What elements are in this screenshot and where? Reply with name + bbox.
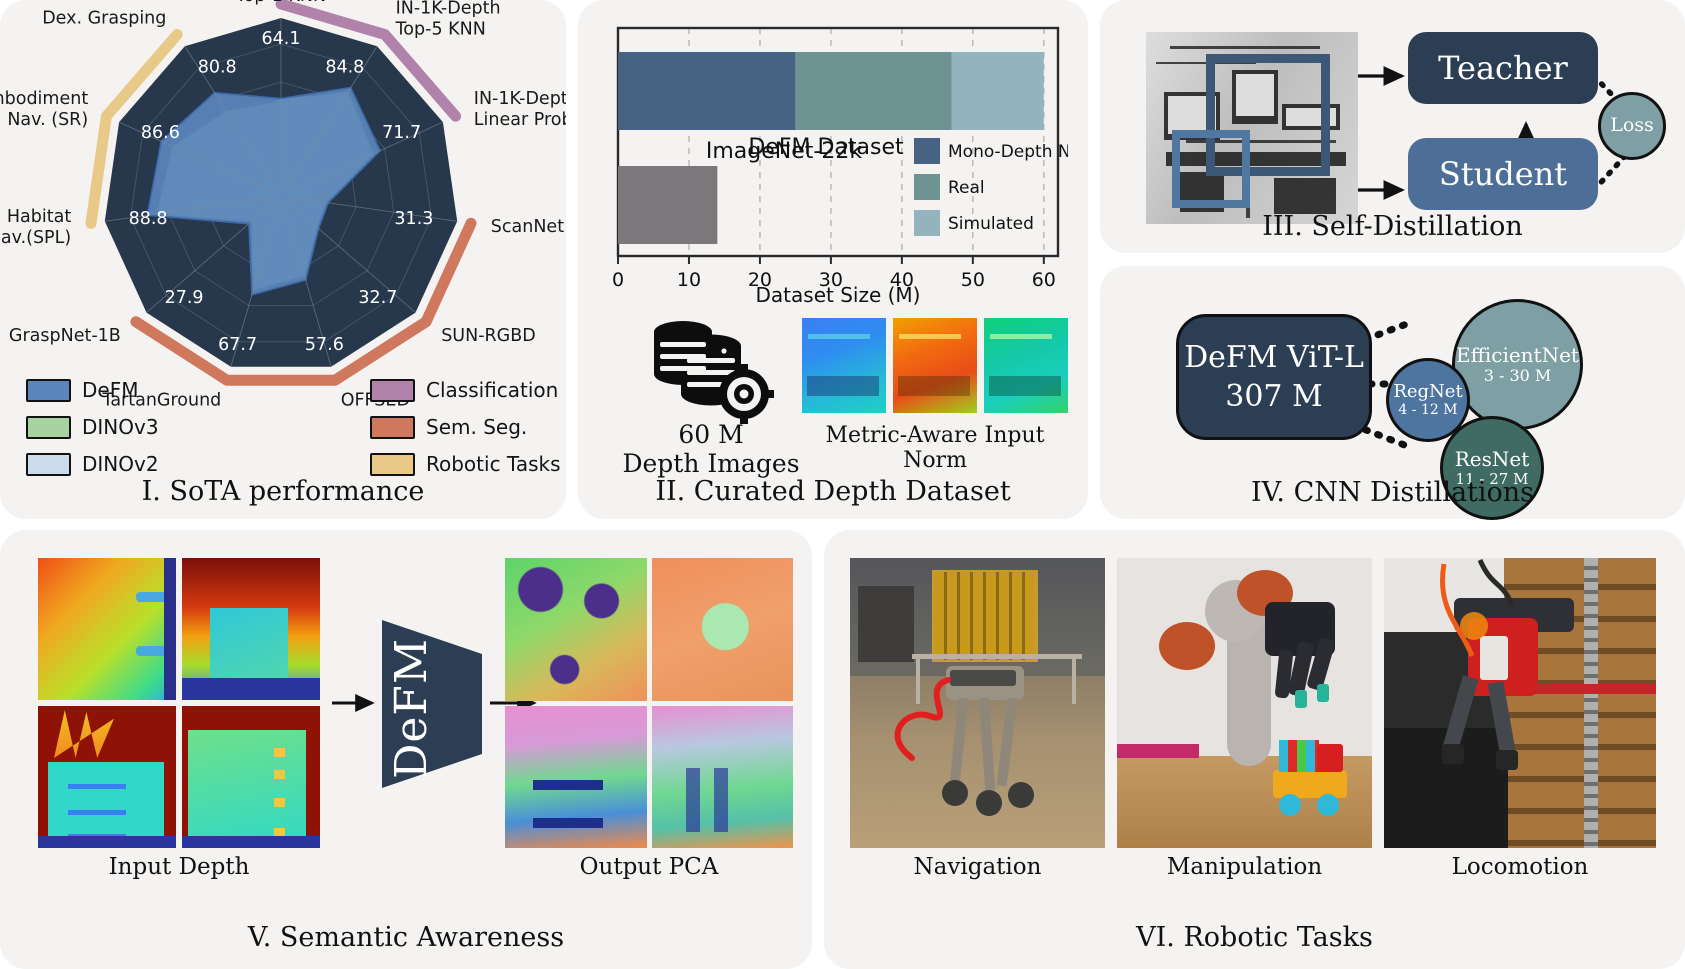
- legend-swatch: [370, 453, 415, 476]
- input-depth-2: [182, 558, 320, 700]
- depth-count-label: Depth Images: [616, 449, 806, 478]
- output-pca-grid: [505, 558, 793, 848]
- svg-text:Embodiment: Embodiment: [0, 89, 88, 109]
- student-node: Student: [1408, 138, 1598, 210]
- svg-text:88.8: 88.8: [129, 209, 168, 229]
- svg-text:Habitat: Habitat: [7, 207, 71, 227]
- database-gear-icon: [636, 316, 786, 424]
- panel-cnn-distillations: DeFM ViT-L 307 M EfficientNet 3 - 30 M R…: [1100, 266, 1685, 519]
- output-pca-4: [652, 706, 794, 849]
- bar-axis-title: Dataset Size (M): [756, 283, 921, 307]
- legend-swatch: [370, 379, 415, 402]
- legend-item-robotic-tasks[interactable]: Robotic Tasks: [370, 452, 561, 476]
- svg-text:Real: Real: [948, 178, 985, 198]
- panel-sota-performance: 64.184.871.731.332.757.667.727.988.886.6…: [0, 0, 566, 519]
- svg-text:GraspNet-1B: GraspNet-1B: [9, 326, 121, 346]
- depth-thumb-orange: [893, 318, 977, 413]
- input-depth-3: [38, 706, 176, 848]
- legend-item-defm[interactable]: DeFM: [26, 378, 159, 402]
- defm-vitl-node: DeFM ViT-L 307 M: [1176, 314, 1372, 440]
- svg-text:Top-5 KNN: Top-5 KNN: [395, 20, 486, 40]
- defm-label: DeFM: [386, 638, 437, 779]
- depth-thumb-blue: [802, 318, 886, 413]
- legend-label: DeFM: [82, 378, 138, 402]
- loss-node: Loss: [1598, 92, 1666, 160]
- output-pca-caption: Output PCA: [505, 854, 793, 880]
- navigation-photo: [850, 558, 1105, 848]
- output-pca-2: [652, 558, 794, 701]
- panel-semantic-awareness: Input Depth DeFM O: [0, 530, 812, 969]
- panel-title-6: VI. Robotic Tasks: [824, 922, 1685, 953]
- legend-label: DINOv3: [82, 415, 159, 439]
- depth-thumb-green: [984, 318, 1068, 413]
- svg-text:57.6: 57.6: [305, 335, 344, 355]
- radar-group-legend: ClassificationSem. Seg.Robotic Tasks: [370, 378, 561, 476]
- panel-self-distillation: ema Teacher Student Loss III. Self-Disti…: [1100, 0, 1685, 253]
- loss-label: Loss: [1610, 115, 1654, 137]
- legend-item-dinov3[interactable]: DINOv3: [26, 415, 159, 439]
- input-depth-1: [38, 558, 176, 700]
- svg-text:Top-1 KNN: Top-1 KNN: [235, 0, 326, 6]
- output-pca-1: [505, 558, 647, 701]
- dataset-size-bar-chart: 0102030405060 DeFM DatasetImageNet-22k M…: [588, 18, 1068, 308]
- legend-swatch: [26, 379, 71, 402]
- navigation-path-overlay: [850, 558, 1105, 848]
- svg-text:ImageNet-22k: ImageNet-22k: [706, 139, 862, 164]
- legend-item-classification[interactable]: Classification: [370, 378, 561, 402]
- svg-text:80.8: 80.8: [198, 57, 237, 77]
- svg-text:32.7: 32.7: [358, 288, 397, 308]
- locomotion-photo: [1384, 558, 1656, 848]
- svg-text:Linear Prob: Linear Prob: [474, 110, 566, 130]
- depth-count: 60 M: [616, 420, 806, 449]
- svg-text:Dex. Grasping: Dex. Grasping: [42, 9, 166, 29]
- panel-title-3: III. Self-Distillation: [1100, 211, 1685, 242]
- efficientnet-name: EfficientNet: [1456, 344, 1579, 367]
- efficientnet-node: EfficientNet 3 - 30 M: [1452, 299, 1583, 430]
- legend-label: Classification: [426, 378, 558, 402]
- figure-root: 64.184.871.731.332.757.667.727.988.886.6…: [0, 0, 1685, 969]
- metric-norm-caption: Metric-Aware Input Norm: [796, 423, 1074, 473]
- output-pca-3: [505, 706, 647, 849]
- locomotion-cables: [1384, 558, 1656, 848]
- svg-text:Nav.(SPL): Nav.(SPL): [0, 228, 71, 248]
- svg-text:Simulated: Simulated: [948, 214, 1034, 234]
- radar-series-legend: DeFMDINOv3DINOv2: [26, 378, 159, 476]
- bar-legend: Mono-Depth NetRealSimulated: [914, 138, 1068, 236]
- depth-images-block: 60 M Depth Images: [616, 316, 806, 478]
- svg-text:67.7: 67.7: [218, 335, 257, 355]
- panel-title-1: I. SoTA performance: [0, 476, 566, 507]
- input-depth-4: [182, 706, 320, 848]
- legend-swatch: [370, 416, 415, 439]
- efficientnet-params: 3 - 30 M: [1484, 367, 1552, 385]
- defm-vitl-params: 307 M: [1225, 379, 1323, 414]
- legend-label: Robotic Tasks: [426, 452, 561, 476]
- panel-robotic-tasks: Navigation Manipulation: [824, 530, 1685, 969]
- regnet-name: RegNet: [1393, 382, 1462, 403]
- self-distillation-input-image: [1146, 32, 1358, 224]
- svg-text:IN-1K-Depth: IN-1K-Depth: [396, 0, 501, 19]
- svg-text:ScanNet: ScanNet: [491, 217, 564, 237]
- legend-swatch: [26, 453, 71, 476]
- input-depth-caption: Input Depth: [38, 854, 320, 880]
- svg-text:0: 0: [612, 269, 624, 291]
- resnet-name: ResNet: [1455, 448, 1530, 471]
- svg-text:27.9: 27.9: [165, 288, 204, 308]
- svg-text:SUN-RGBD: SUN-RGBD: [441, 326, 536, 346]
- defm-vitl-name: DeFM ViT-L: [1184, 340, 1364, 375]
- navigation-caption: Navigation: [850, 854, 1105, 880]
- panel-curated-depth-dataset: 0102030405060 DeFM DatasetImageNet-22k M…: [578, 0, 1088, 519]
- legend-label: DINOv2: [82, 452, 159, 476]
- legend-item-sem-seg[interactable]: Sem. Seg.: [370, 415, 561, 439]
- svg-text:71.7: 71.7: [382, 123, 421, 143]
- svg-text:64.1: 64.1: [262, 29, 301, 49]
- manipulation-caption: Manipulation: [1117, 854, 1372, 880]
- svg-text:84.8: 84.8: [325, 57, 364, 77]
- regnet-params: 4 - 12 M: [1398, 402, 1457, 418]
- input-depth-grid: [38, 558, 320, 848]
- svg-text:Mono-Depth Net: Mono-Depth Net: [948, 142, 1068, 162]
- bar-category-labels: DeFM DatasetImageNet-22k: [706, 135, 904, 164]
- panel-title-4: IV. CNN Distillations: [1100, 477, 1685, 508]
- metric-norm-block: Metric-Aware Input Norm: [796, 318, 1074, 473]
- svg-text:60: 60: [1032, 269, 1056, 291]
- svg-text:50: 50: [961, 269, 985, 291]
- teacher-node: Teacher: [1408, 32, 1598, 104]
- panel-title-2: II. Curated Depth Dataset: [578, 476, 1088, 507]
- legend-item-dinov2[interactable]: DINOv2: [26, 452, 159, 476]
- crop-box-small: [1172, 130, 1250, 208]
- panel-title-5: V. Semantic Awareness: [0, 922, 812, 953]
- svg-text:IN-1K-Depth: IN-1K-Depth: [474, 89, 566, 109]
- legend-label: Sem. Seg.: [426, 415, 527, 439]
- svg-text:10: 10: [677, 269, 701, 291]
- svg-text:Nav. (SR): Nav. (SR): [7, 110, 88, 130]
- locomotion-caption: Locomotion: [1384, 854, 1656, 880]
- svg-text:86.6: 86.6: [141, 123, 180, 143]
- legend-swatch: [26, 416, 71, 439]
- manipulation-photo: [1117, 558, 1372, 848]
- svg-text:31.3: 31.3: [394, 209, 433, 229]
